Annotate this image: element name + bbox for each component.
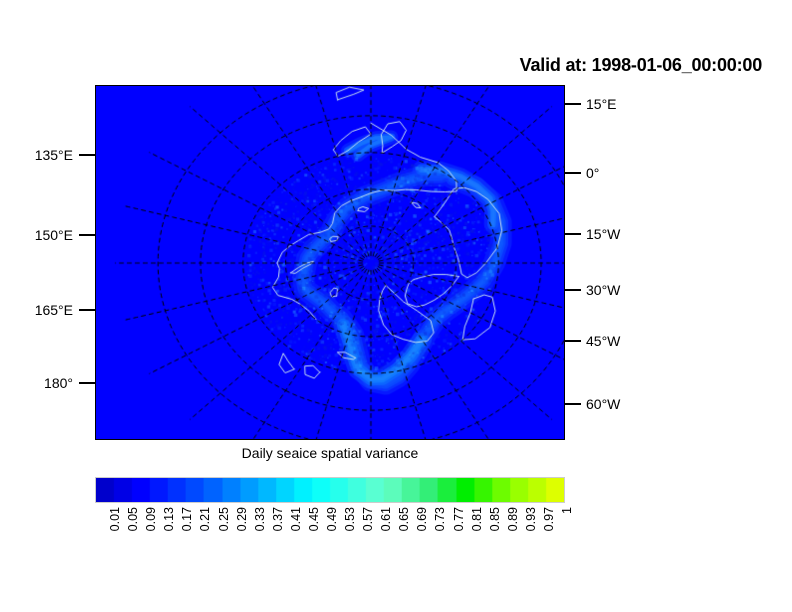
- right-tick-mark: [565, 233, 581, 235]
- colorbar-tick-label: 0.45: [308, 507, 321, 531]
- colorbar-tick-label: 0.09: [145, 507, 158, 531]
- map-plot-area: [95, 85, 565, 440]
- colorbar-tick-labels: 0.010.050.090.130.170.210.250.290.330.37…: [95, 507, 565, 567]
- right-tick-label: 15°E: [586, 97, 617, 111]
- colorbar-tick-label: 0.97: [543, 507, 556, 531]
- right-tick-mark: [565, 172, 581, 174]
- colorbar-tick-label: 0.93: [525, 507, 538, 531]
- left-tick-mark: [79, 154, 95, 156]
- right-tick-label: 60°W: [586, 397, 620, 411]
- colorbar-tick-label: 0.73: [434, 507, 447, 531]
- left-tick-mark: [79, 309, 95, 311]
- left-tick-label: 180°: [44, 376, 73, 390]
- colorbar-tick-label: 0.49: [326, 507, 339, 531]
- page-title: Valid at: 1998-01-06_00:00:00: [0, 55, 762, 76]
- colorbar: [95, 477, 565, 503]
- colorbar-tick-label: 0.37: [272, 507, 285, 531]
- colorbar-tick-label: 1: [561, 507, 574, 514]
- colorbar-tick-label: 0.29: [236, 507, 249, 531]
- colorbar-tick-label: 0.81: [471, 507, 484, 531]
- right-tick-mark: [565, 340, 581, 342]
- colorbar-tick-label: 0.69: [416, 507, 429, 531]
- colorbar-tick-label: 0.61: [380, 507, 393, 531]
- left-tick-label: 135°E: [35, 148, 73, 162]
- colorbar-tick-label: 0.33: [254, 507, 267, 531]
- left-tick-label: 165°E: [35, 303, 73, 317]
- colorbar-tick-label: 0.01: [109, 507, 122, 531]
- colorbar-tick-label: 0.77: [453, 507, 466, 531]
- colorbar-tick-label: 0.53: [344, 507, 357, 531]
- colorbar-caption: Daily seaice spatial variance: [95, 445, 565, 461]
- colorbar-tick-label: 0.21: [199, 507, 212, 531]
- right-tick-mark: [565, 403, 581, 405]
- colorbar-tick-label: 0.85: [489, 507, 502, 531]
- right-tick-label: 0°: [586, 166, 599, 180]
- seaice-variance-map: [96, 86, 564, 439]
- right-tick-label: 15°W: [586, 227, 620, 241]
- right-tick-mark: [565, 103, 581, 105]
- right-tick-label: 45°W: [586, 334, 620, 348]
- colorbar-tick-label: 0.17: [181, 507, 194, 531]
- left-tick-label: 150°E: [35, 228, 73, 242]
- colorbar-tick-label: 0.89: [507, 507, 520, 531]
- colorbar-tick-label: 0.05: [127, 507, 140, 531]
- right-tick-label: 30°W: [586, 283, 620, 297]
- left-tick-mark: [79, 382, 95, 384]
- colorbar-tick-label: 0.25: [218, 507, 231, 531]
- right-tick-mark: [565, 289, 581, 291]
- left-tick-mark: [79, 234, 95, 236]
- colorbar-tick-label: 0.57: [362, 507, 375, 531]
- colorbar-gradient: [95, 477, 565, 503]
- colorbar-tick-label: 0.41: [290, 507, 303, 531]
- colorbar-tick-label: 0.13: [163, 507, 176, 531]
- colorbar-tick-label: 0.65: [398, 507, 411, 531]
